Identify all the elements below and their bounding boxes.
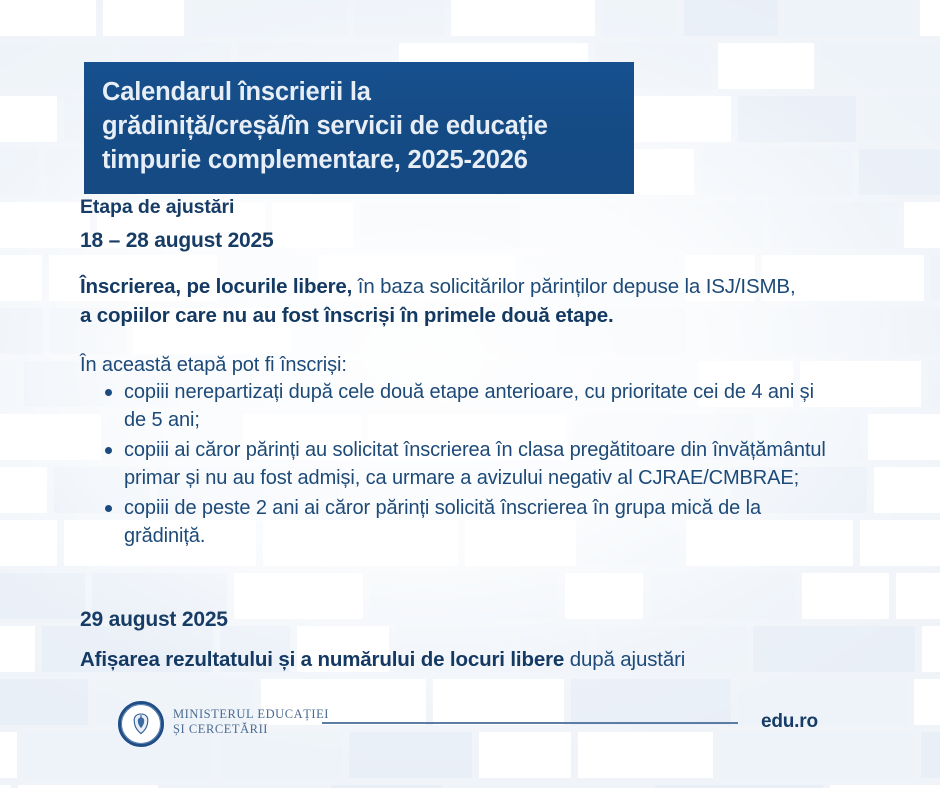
list-item: copiii ai căror părinți au solicitat îns… — [80, 436, 840, 493]
date-2: 29 august 2025 — [80, 608, 228, 632]
bullet-dot-icon — [105, 505, 112, 512]
paragraph-main-bold-2: a copiilor care nu au fost înscriși în p… — [80, 304, 614, 327]
coat-of-arms-icon — [131, 713, 151, 735]
bullet-dot-icon — [105, 389, 112, 396]
ministry-name-line-2: ȘI CERCETĂRII — [173, 722, 329, 737]
paragraph-final-bold-1: Afișarea rezultatului și a numărului de … — [80, 648, 564, 671]
list-item-text: copiii de peste 2 ani ai căror părinți s… — [124, 497, 761, 547]
poster-canvas: Calendarul înscrierii la grădiniță/creșă… — [0, 0, 940, 788]
paragraph-main-bold-1: Înscrierea, pe locurile libere, — [80, 275, 352, 298]
poster-content: Calendarul înscrierii la grădiniță/creșă… — [0, 0, 940, 788]
ministry-name: MINISTERUL EDUCAȚIEI ȘI CERCETĂRII — [173, 707, 329, 738]
list-item: copiii de peste 2 ani ai căror părinți s… — [80, 494, 840, 551]
footer-url[interactable]: edu.ro — [761, 711, 818, 733]
title-line-2: grădiniță/creșă/în servicii de educație — [102, 110, 616, 144]
seal-circle — [118, 701, 164, 747]
list-item-text: copiii ai căror părinți au solicitat îns… — [124, 439, 826, 489]
bullets-intro-line: În această etapă pot fi înscriși: — [80, 351, 347, 379]
bullet-dot-icon — [105, 447, 112, 454]
title-line-1: Calendarul înscrierii la — [102, 76, 616, 110]
paragraph-main-normal-1: în baza solicitărilor părinților depuse … — [352, 275, 795, 298]
paragraph-final: Afișarea rezultatului și a numărului de … — [80, 646, 840, 675]
paragraph-main: Înscrierea, pe locurile libere, în baza … — [80, 272, 810, 330]
title-line-3: timpurie complementare, 2025-2026 — [102, 144, 616, 178]
date-range-1: 18 – 28 august 2025 — [80, 229, 274, 253]
list-item-text: copiii nerepartizați după cele două etap… — [124, 381, 814, 431]
ministry-name-line-1: MINISTERUL EDUCAȚIEI — [173, 707, 329, 722]
eligibility-bullet-list: copiii nerepartizați după cele două etap… — [80, 378, 840, 551]
title-banner: Calendarul înscrierii la grădiniță/creșă… — [84, 62, 634, 194]
list-item: copiii nerepartizați după cele două etap… — [80, 378, 840, 435]
government-seal-icon — [118, 701, 164, 747]
paragraph-final-normal-1: după ajustări — [564, 648, 685, 671]
footer: MINISTERUL EDUCAȚIEI ȘI CERCETĂRII edu.r… — [0, 697, 940, 759]
stage-label: Etapa de ajustări — [80, 196, 234, 219]
footer-divider — [322, 722, 738, 724]
